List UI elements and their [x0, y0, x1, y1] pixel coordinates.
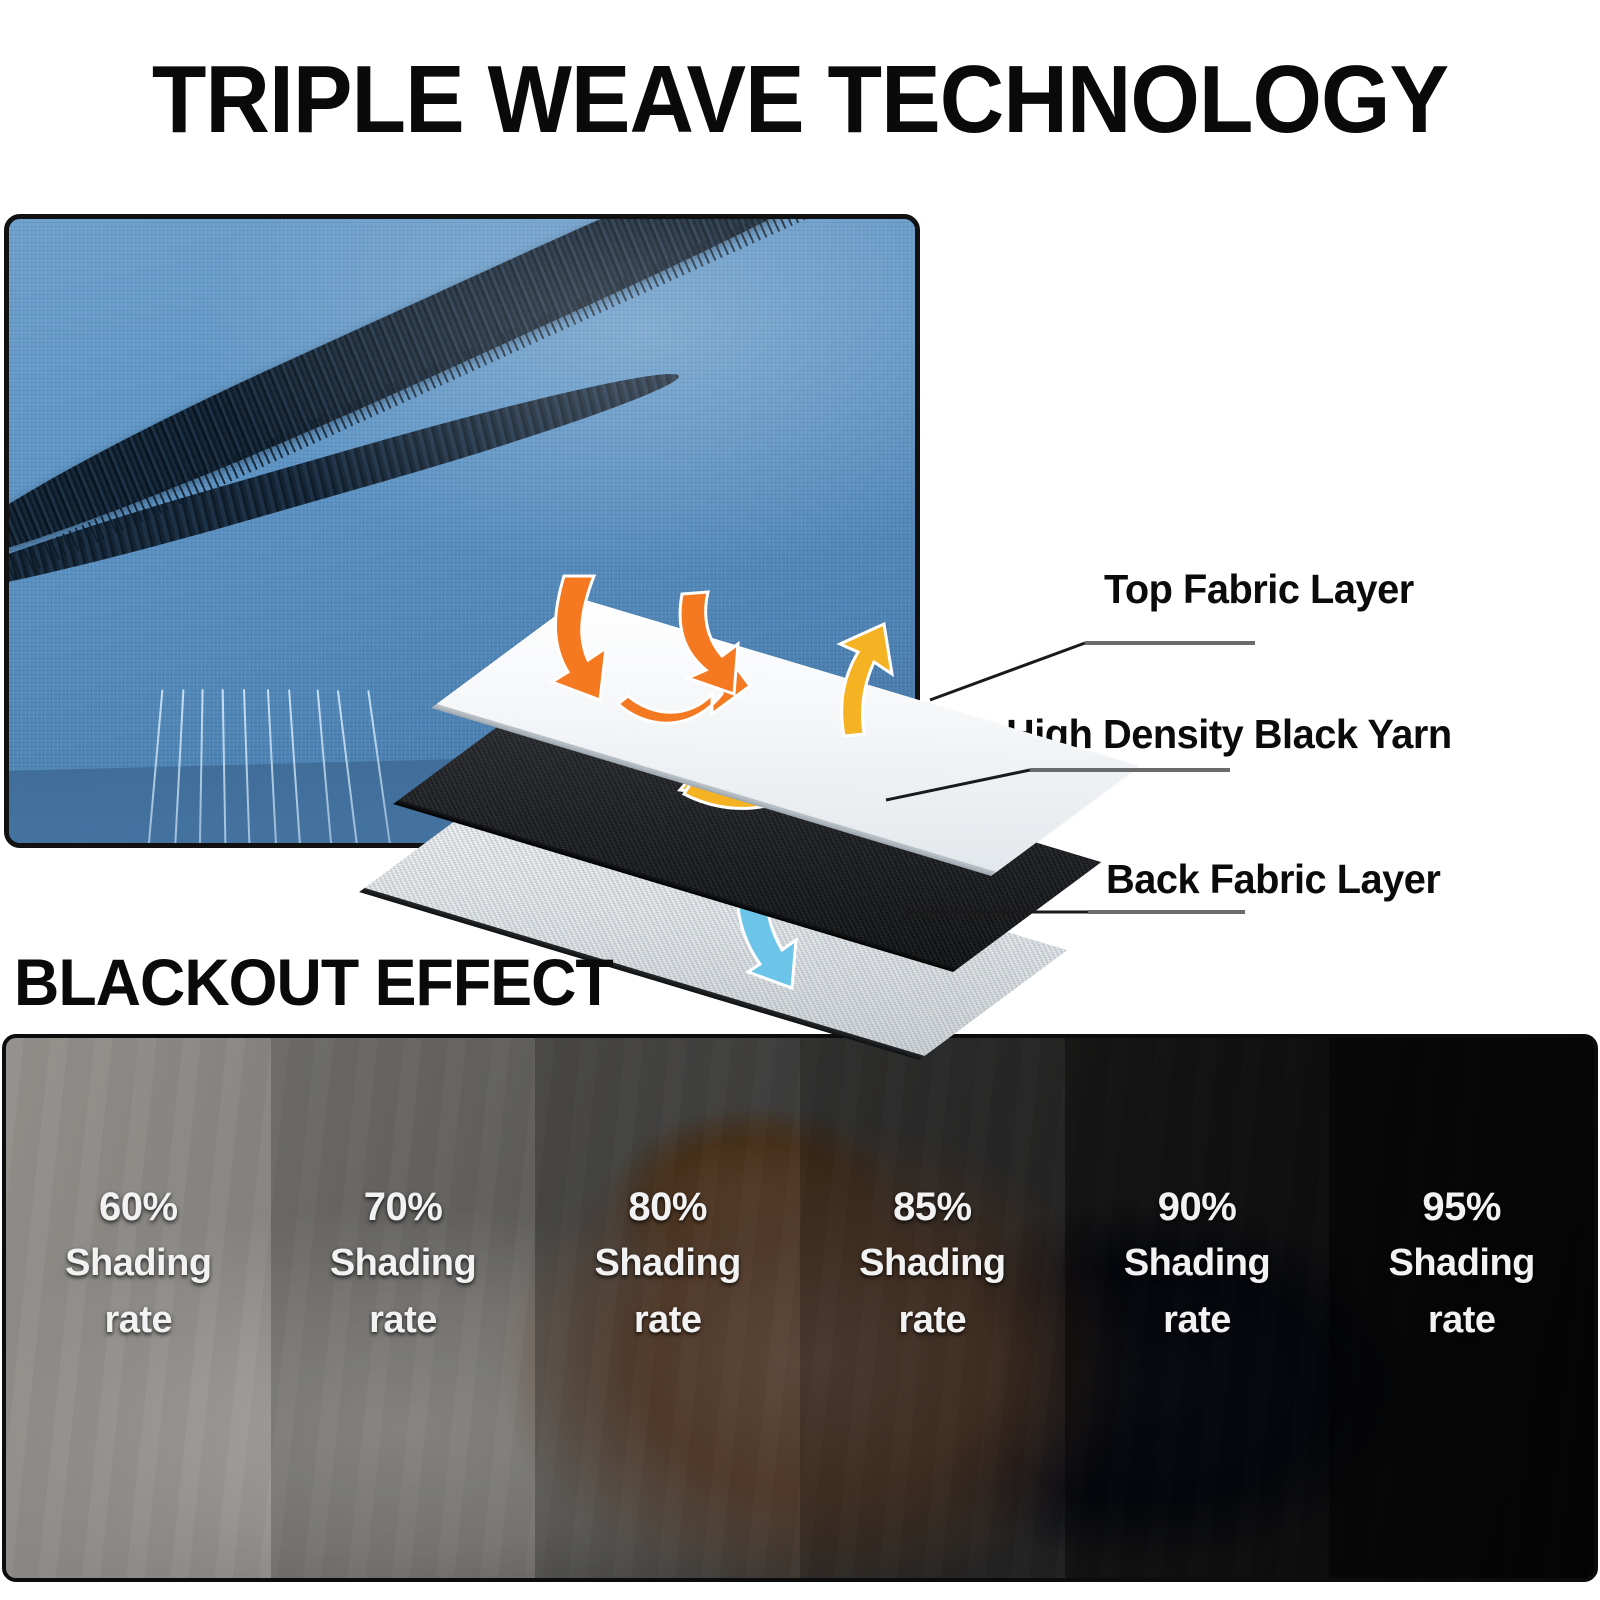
shading-label-line2: rate	[859, 1299, 1005, 1342]
shading-panel: 80% Shading rate	[535, 1038, 800, 1578]
shading-percent: 90%	[1124, 1186, 1270, 1228]
blackout-effect-strip: 60% Shading rate 70% Shading rate 80% Sh…	[2, 1034, 1598, 1582]
shading-percent: 80%	[594, 1186, 740, 1228]
shading-label-line1: Shading	[859, 1242, 1005, 1285]
shading-panel: 85% Shading rate	[800, 1038, 1065, 1578]
blackout-effect-heading: BLACKOUT EFFECT	[14, 944, 613, 1020]
shading-percent: 60%	[65, 1186, 211, 1228]
shading-panel: 95% Shading rate	[1329, 1038, 1594, 1578]
shading-label-line1: Shading	[1389, 1242, 1535, 1285]
shading-label-line1: Shading	[65, 1242, 211, 1285]
shading-label-line2: rate	[1389, 1299, 1535, 1342]
shading-panel: 90% Shading rate	[1065, 1038, 1330, 1578]
callout-label-back-fabric-layer: Back Fabric Layer	[1106, 856, 1440, 903]
shading-label-line2: rate	[65, 1299, 211, 1342]
shading-label-line2: rate	[594, 1299, 740, 1342]
shading-label-line1: Shading	[594, 1242, 740, 1285]
shading-panel: 70% Shading rate	[271, 1038, 536, 1578]
shading-percent: 70%	[330, 1186, 476, 1228]
shading-label-line1: Shading	[330, 1242, 476, 1285]
shading-percent: 85%	[859, 1186, 1005, 1228]
shading-label-line2: rate	[330, 1299, 476, 1342]
shading-panel: 60% Shading rate	[6, 1038, 271, 1578]
page-title: TRIPLE WEAVE TECHNOLOGY	[56, 52, 1544, 148]
shading-percent: 95%	[1389, 1186, 1535, 1228]
callout-label-top-fabric-layer: Top Fabric Layer	[1104, 566, 1414, 613]
shading-label-line2: rate	[1124, 1299, 1270, 1342]
shading-label-line1: Shading	[1124, 1242, 1270, 1285]
